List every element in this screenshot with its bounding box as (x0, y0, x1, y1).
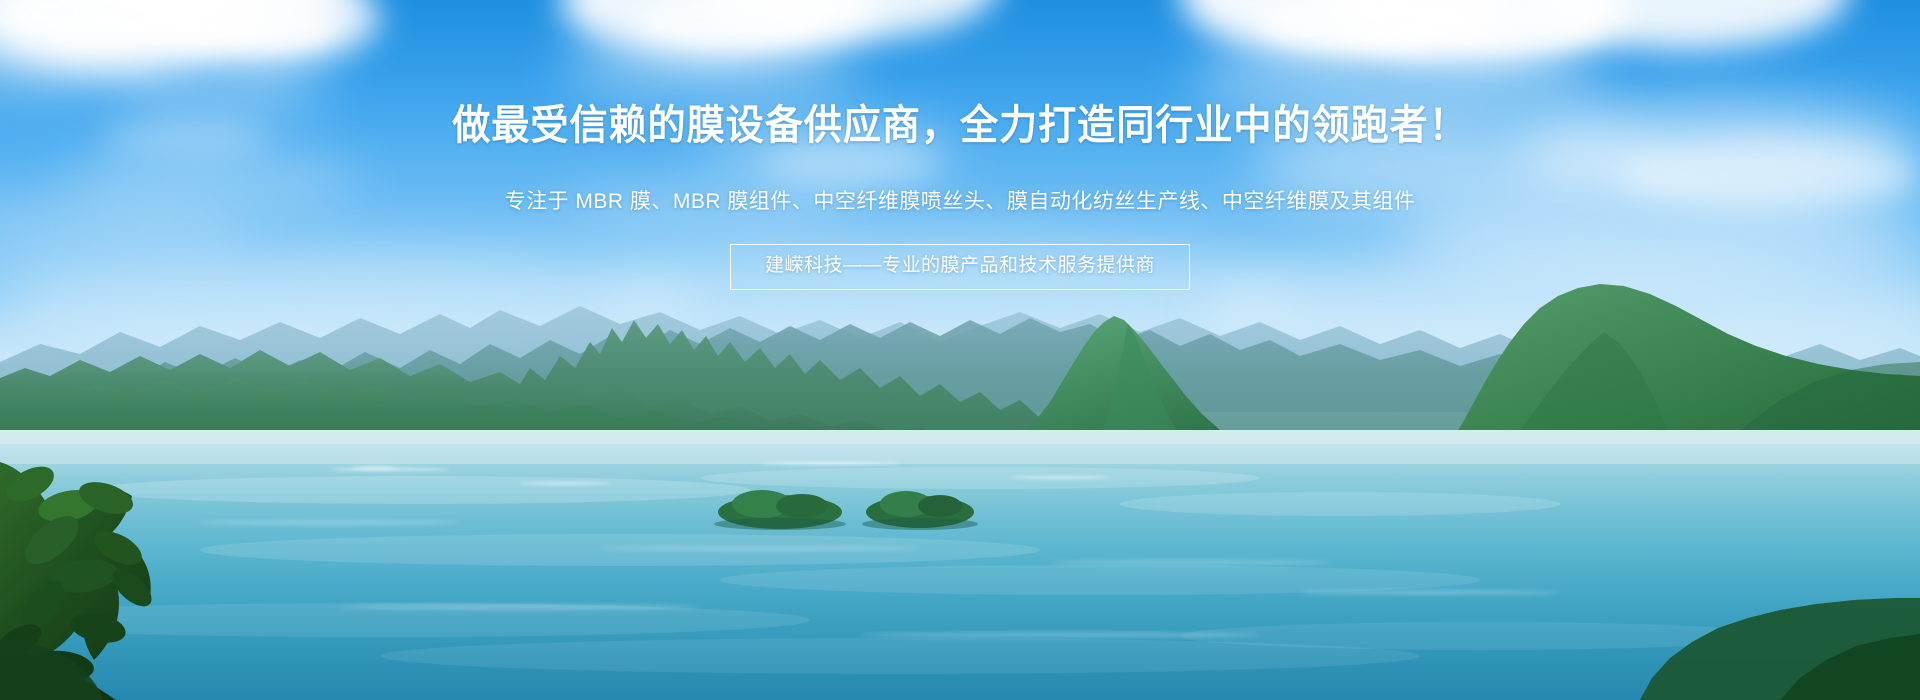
banner-tagline-box: 建嵘科技——专业的膜产品和技术服务提供商 (730, 244, 1190, 290)
banner-tagline-wrapper: 建嵘科技——专业的膜产品和技术服务提供商 (0, 244, 1920, 290)
banner-headline: 做最受信赖的膜设备供应商，全力打造同行业中的领跑者！ (67, 101, 1853, 149)
hero-banner: 做最受信赖的膜设备供应商，全力打造同行业中的领跑者！ 专注于 MBR 膜、MBR… (0, 0, 1920, 700)
banner-subtitle: 专注于 MBR 膜、MBR 膜组件、中空纤维膜喷丝头、膜自动化纺丝生产线、中空纤… (0, 188, 1920, 216)
banner-content: 做最受信赖的膜设备供应商，全力打造同行业中的领跑者！ 专注于 MBR 膜、MBR… (0, 0, 1920, 700)
